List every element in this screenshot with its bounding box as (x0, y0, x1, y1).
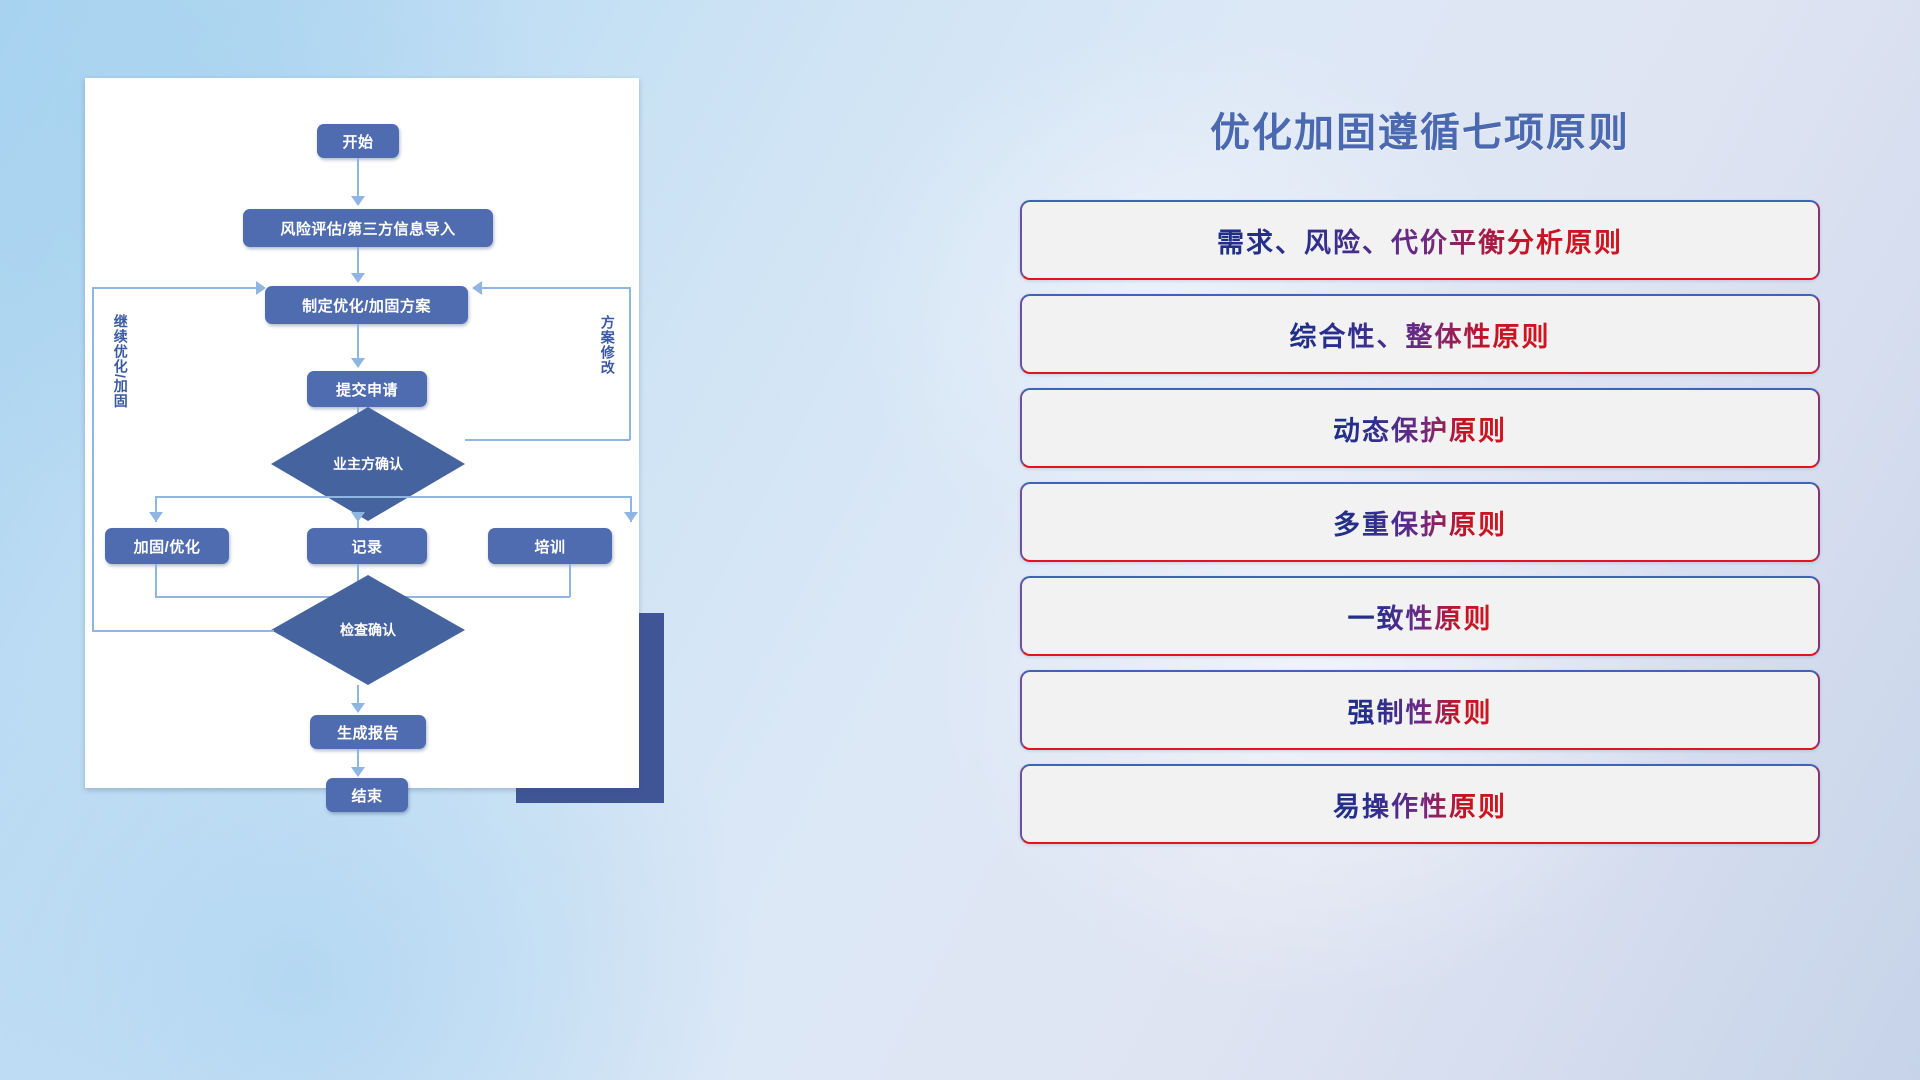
connector-left-loop-bottom (92, 630, 274, 632)
arrowhead-down (149, 512, 163, 522)
flow-node-record[interactable]: 记录 (307, 528, 427, 564)
connector-right-loop-vertical (629, 287, 631, 440)
edge-label-plan-revision: 方案修改 (600, 315, 615, 375)
flow-node-label: 开始 (342, 131, 373, 152)
flow-node-label: 制定优化/加固方案 (302, 295, 431, 316)
connector-branch-bus (155, 496, 630, 498)
edge-label-text: 方案修改 (600, 315, 616, 375)
principle-label: 一致性原则 (1348, 597, 1493, 636)
flow-node-start[interactable]: 开始 (317, 124, 399, 158)
flow-node-label: 风险评估/第三方信息导入 (280, 218, 455, 239)
connector-reinforce-down (155, 564, 157, 597)
connector-right-loop-bottom (465, 439, 630, 441)
arrowhead-left (472, 281, 482, 295)
principles-panel: 优化加固遵循七项原则 需求、风险、代价平衡分析原则 综合性、整体性原则 动态保护… (1020, 78, 1820, 998)
flow-node-label: 加固/优化 (134, 536, 201, 557)
arrowhead-down (351, 767, 365, 777)
process-flowchart: 开始 风险评估/第三方信息导入 制定优化/加固方案 提交申请 业主方确认 (85, 78, 639, 788)
principle-card[interactable]: 需求、风险、代价平衡分析原则 (1020, 200, 1820, 280)
connector-right-loop-top (481, 287, 630, 289)
flow-node-label: 提交申请 (336, 379, 398, 400)
flow-node-label: 生成报告 (337, 722, 399, 743)
flow-node-make-plan[interactable]: 制定优化/加固方案 (265, 286, 468, 324)
principle-label: 需求、风险、代价平衡分析原则 (1217, 221, 1623, 260)
arrowhead-down (351, 196, 365, 206)
panel-title: 优化加固遵循七项原则 (1020, 100, 1820, 158)
flow-decision-owner-confirm[interactable]: 业主方确认 (271, 407, 465, 521)
connector-start-to-risk (357, 158, 359, 200)
principle-card[interactable]: 一致性原则 (1020, 576, 1820, 656)
edge-label-text: 继续优化/加固 (113, 314, 129, 409)
principle-card[interactable]: 动态保护原则 (1020, 388, 1820, 468)
flow-node-end[interactable]: 结束 (326, 778, 408, 812)
principle-card[interactable]: 强制性原则 (1020, 670, 1820, 750)
principle-label: 易操作性原则 (1333, 785, 1507, 824)
flow-node-label: 记录 (351, 536, 382, 557)
flow-node-submit-application[interactable]: 提交申请 (307, 371, 427, 407)
connector-plan-to-submit (357, 324, 359, 362)
arrowhead-down (351, 358, 365, 368)
flow-decision-inspection-confirm[interactable]: 检查确认 (271, 575, 465, 685)
flowchart-card: 开始 风险评估/第三方信息导入 制定优化/加固方案 提交申请 业主方确认 (85, 78, 639, 788)
flow-node-label: 检查确认 (340, 620, 396, 640)
principle-card[interactable]: 多重保护原则 (1020, 482, 1820, 562)
principle-card[interactable]: 易操作性原则 (1020, 764, 1820, 844)
arrowhead-right (256, 281, 266, 295)
connector-training-down (569, 564, 571, 597)
principles-list: 需求、风险、代价平衡分析原则 综合性、整体性原则 动态保护原则 多重保护原则 一… (1020, 200, 1820, 858)
principle-label: 动态保护原则 (1333, 409, 1507, 448)
connector-left-loop-vertical (92, 287, 94, 631)
arrowhead-down (351, 512, 365, 522)
flow-node-risk-assessment[interactable]: 风险评估/第三方信息导入 (243, 209, 493, 247)
principle-card[interactable]: 综合性、整体性原则 (1020, 294, 1820, 374)
arrowhead-down (624, 512, 638, 522)
flow-node-label: 业主方确认 (333, 454, 403, 474)
flow-node-reinforce-optimize[interactable]: 加固/优化 (105, 528, 229, 564)
arrowhead-down (351, 273, 365, 283)
edge-label-continue-optimize: 继续优化/加固 (113, 314, 128, 409)
flow-node-generate-report[interactable]: 生成报告 (310, 715, 426, 749)
principle-label: 强制性原则 (1348, 691, 1493, 730)
flow-node-training[interactable]: 培训 (488, 528, 612, 564)
flow-node-label: 结束 (351, 785, 382, 806)
principle-label: 综合性、整体性原则 (1290, 315, 1551, 354)
principle-label: 多重保护原则 (1333, 503, 1507, 542)
flow-node-label: 培训 (534, 536, 565, 557)
arrowhead-down (351, 703, 365, 713)
connector-left-loop-top (92, 287, 258, 289)
